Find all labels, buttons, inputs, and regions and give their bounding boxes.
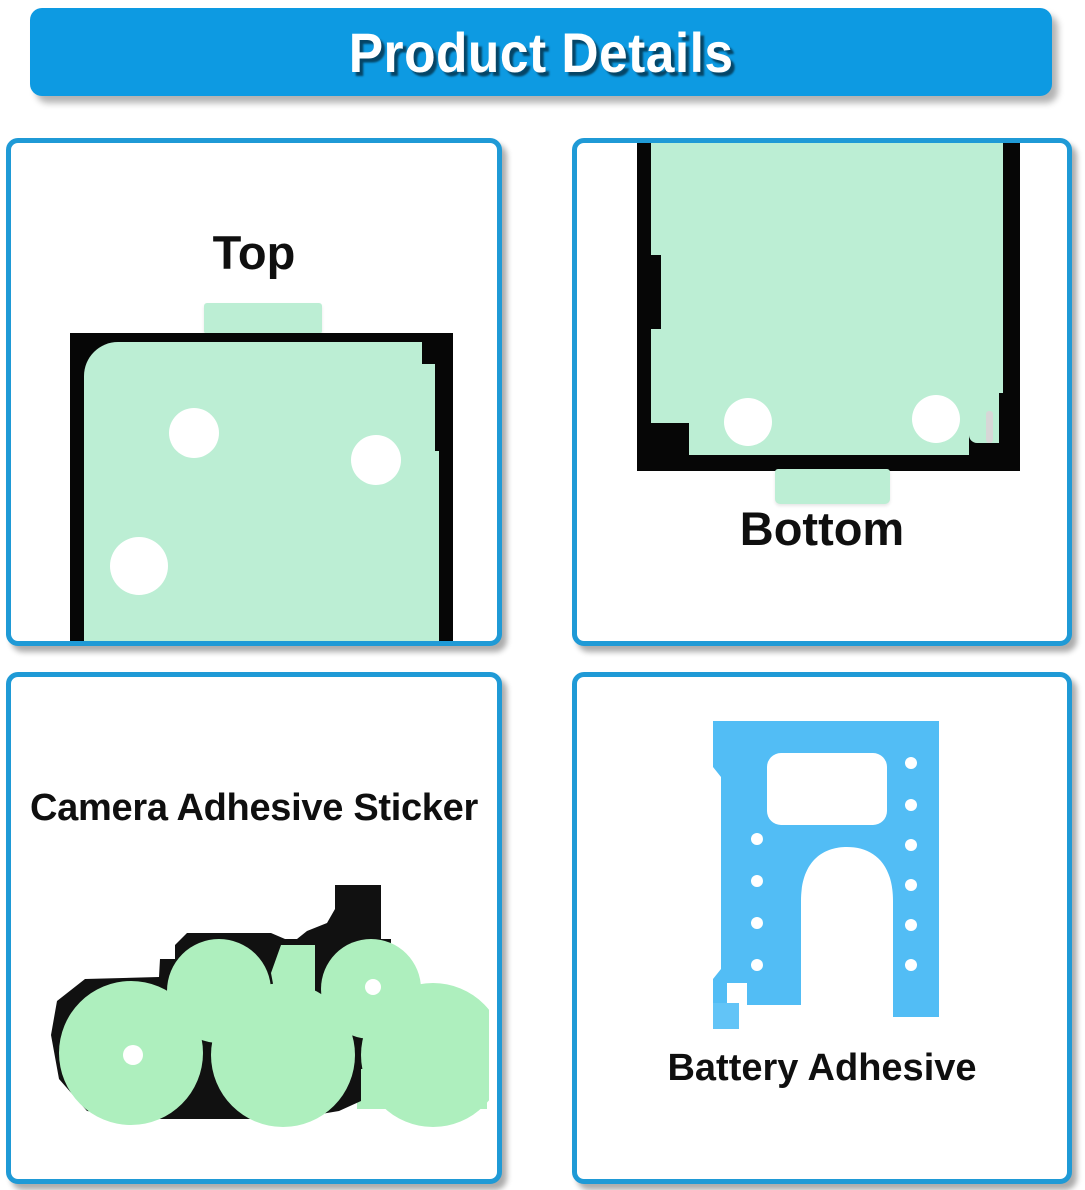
adhesive-hole-icon [724,398,772,446]
perforation-dot-icon [751,833,763,845]
battery-adhesive-artwork [695,711,957,1031]
perforation-dot-icon [905,959,917,971]
adhesive-tab-icon [775,469,890,504]
adhesive-hole-icon [351,435,401,485]
camera-lens-opening-icon [211,983,355,1127]
panel-label-bottom: Bottom [577,501,1067,556]
page-title: Product Details [349,20,734,85]
adhesive-mint-sheet [84,342,439,646]
battery-rect-cutout-icon [767,753,887,825]
perforation-dot-icon [905,879,917,891]
perforation-dot-icon [905,919,917,931]
adhesive-mint-corner [969,393,999,443]
adhesive-hole-icon [110,537,168,595]
adhesive-edge-notch-icon [435,359,443,451]
product-details-banner: Product Details [30,8,1052,96]
panel-label-camera: Camera Adhesive Sticker [11,787,497,830]
perforation-dot-icon [751,917,763,929]
adhesive-hole-icon [169,408,219,458]
adhesive-corner-notch-icon [651,423,689,455]
perforation-dot-icon [905,839,917,851]
adhesive-hole-icon [912,395,960,443]
panel-bottom-adhesive: Bottom [572,138,1072,646]
camera-pinhole-icon [123,1045,143,1065]
panel-label-top: Top [11,225,497,280]
panel-label-battery: Battery Adhesive [577,1047,1067,1090]
battery-pull-nub-icon [713,1003,739,1029]
adhesive-slot-icon [986,411,993,443]
perforation-dot-icon [905,757,917,769]
perforation-dot-icon [751,959,763,971]
panel-top-adhesive: Top [6,138,502,646]
adhesive-tab-icon [204,303,322,334]
adhesive-edge-notch-icon [651,255,661,329]
camera-pinhole-icon [365,979,381,995]
perforation-dot-icon [905,799,917,811]
perforation-dot-icon [751,875,763,887]
panel-battery-adhesive: Battery Adhesive [572,672,1072,1184]
panel-camera-adhesive: Camera Adhesive Sticker [6,672,502,1184]
camera-adhesive-sticker-artwork [39,873,489,1143]
